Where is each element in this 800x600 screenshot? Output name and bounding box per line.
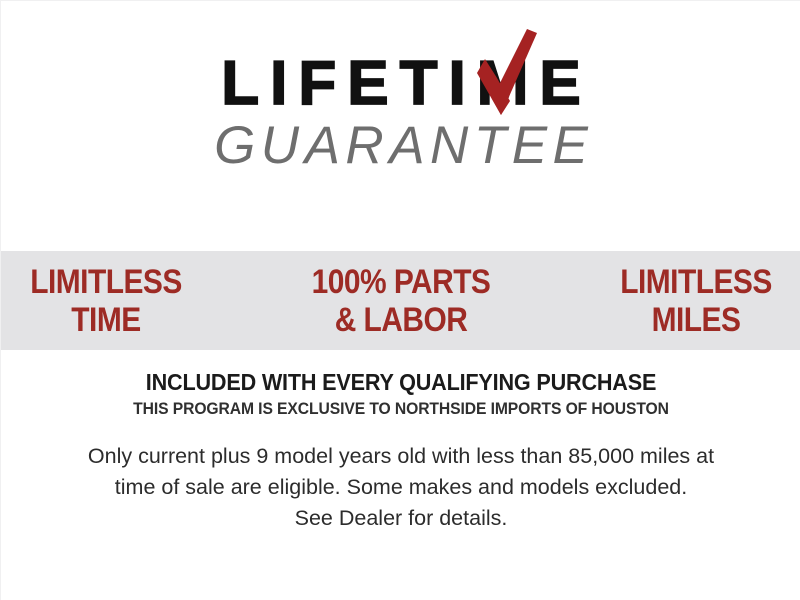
disclaimer-block: INCLUDED WITH EVERY QUALIFYING PURCHASE …: [1, 369, 800, 534]
feature-column-limitless-miles: LIMITLESS MILES: [553, 263, 800, 339]
disclaimer-headline: INCLUDED WITH EVERY QUALIFYING PURCHASE: [25, 369, 777, 396]
fineprint-text: Only current plus 9 model years old with…: [31, 441, 771, 534]
disclaimer-subheadline: THIS PROGRAM IS EXCLUSIVE TO NORTHSIDE I…: [21, 400, 781, 419]
logo-wordmark: LIFETIME GUARANTEE: [209, 53, 594, 173]
fineprint-line: time of sale are eligible. Some makes an…: [31, 472, 771, 503]
feature-line-1: 100% PARTS: [290, 263, 512, 301]
feature-column-limitless-time: LIMITLESS TIME: [0, 263, 249, 339]
feature-line-2: MILES: [593, 301, 799, 339]
lifetime-guarantee-ad: LIFETIME GUARANTEE LIMITLESS TIME 100% P…: [0, 0, 800, 600]
logo-primary-text: LIFETIME: [209, 53, 594, 115]
feature-line-1: LIMITLESS: [593, 263, 799, 301]
feature-column-parts-labor: 100% PARTS & LABOR: [249, 263, 553, 339]
logo-block: LIFETIME GUARANTEE: [1, 53, 800, 203]
fineprint-line: Only current plus 9 model years old with…: [31, 441, 771, 472]
feature-line-2: & LABOR: [290, 301, 512, 339]
feature-line-1: LIMITLESS: [3, 263, 209, 301]
feature-banner: LIMITLESS TIME 100% PARTS & LABOR LIMITL…: [1, 251, 800, 350]
feature-line-2: TIME: [3, 301, 209, 339]
logo-secondary-text: GUARANTEE: [209, 118, 594, 173]
fineprint-line: See Dealer for details.: [31, 503, 771, 534]
